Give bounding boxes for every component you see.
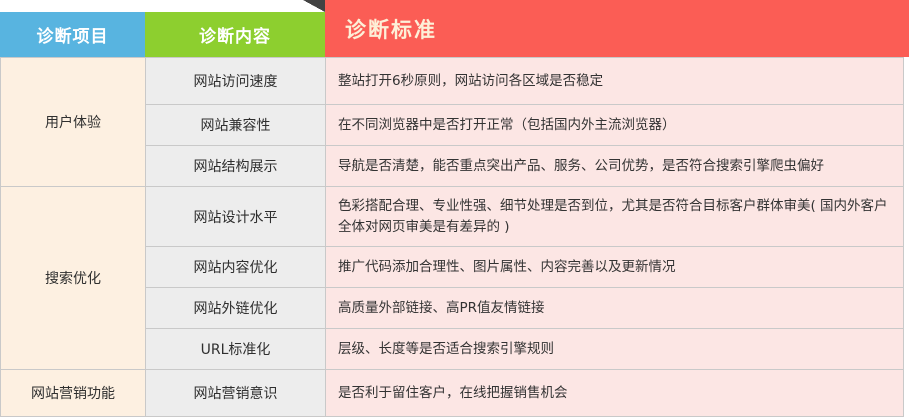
table-row: 网站营销功能 网站营销意识 是否利于留住客户，在线把握销售机会: [1, 370, 904, 417]
standard-cell: 导航是否清楚，能否重点突出产品、服务、公司优势，是否符合搜索引擎爬虫偏好: [326, 146, 904, 187]
standard-cell: 高质量外部链接、高PR值友情链接: [326, 288, 904, 329]
standard-cell: 在不同浏览器中是否打开正常（包括国内外主流浏览器）: [326, 105, 904, 146]
category-cell: 网站营销功能: [1, 370, 146, 417]
item-cell: 网站营销意识: [146, 370, 326, 417]
table-row: 搜索优化 网站设计水平 色彩搭配合理、专业性强、细节处理是否到位，尤其是否符合目…: [1, 187, 904, 247]
table-body: 用户体验 网站访问速度 整站打开6秒原则，网站访问各区域是否稳定 网站兼容性 在…: [0, 57, 903, 418]
item-cell: 网站结构展示: [146, 146, 326, 187]
table-header-row: 诊断项目 诊断内容 诊断标准: [0, 0, 909, 57]
ribbon-fold-decoration: [303, 0, 325, 12]
item-cell: 网站设计水平: [146, 187, 326, 247]
table-row: 用户体验 网站访问速度 整站打开6秒原则，网站访问各区域是否稳定: [1, 58, 904, 105]
category-cell: 用户体验: [1, 58, 146, 187]
diagnostic-criteria-table: 诊断项目 诊断内容 诊断标准 用户体验 网站访问速度 整站打开6秒原则，网站访问…: [0, 0, 909, 418]
header-diagnostic-standard: 诊断标准: [325, 0, 909, 57]
category-cell: 搜索优化: [1, 187, 146, 370]
item-cell: 网站外链优化: [146, 288, 326, 329]
item-cell: URL标准化: [146, 329, 326, 370]
criteria-grid: 用户体验 网站访问速度 整站打开6秒原则，网站访问各区域是否稳定 网站兼容性 在…: [0, 57, 904, 417]
header-diagnostic-content: 诊断内容: [145, 12, 325, 57]
standard-cell: 整站打开6秒原则，网站访问各区域是否稳定: [326, 58, 904, 105]
item-cell: 网站兼容性: [146, 105, 326, 146]
standard-cell: 色彩搭配合理、专业性强、细节处理是否到位，尤其是否符合目标客户群体审美( 国内外…: [326, 187, 904, 247]
standard-cell: 是否利于留住客户，在线把握销售机会: [326, 370, 904, 417]
standard-cell: 推广代码添加合理性、图片属性、内容完善以及更新情况: [326, 247, 904, 288]
header-diagnostic-item: 诊断项目: [0, 12, 145, 57]
item-cell: 网站访问速度: [146, 58, 326, 105]
standard-cell: 层级、长度等是否适合搜索引擎规则: [326, 329, 904, 370]
item-cell: 网站内容优化: [146, 247, 326, 288]
